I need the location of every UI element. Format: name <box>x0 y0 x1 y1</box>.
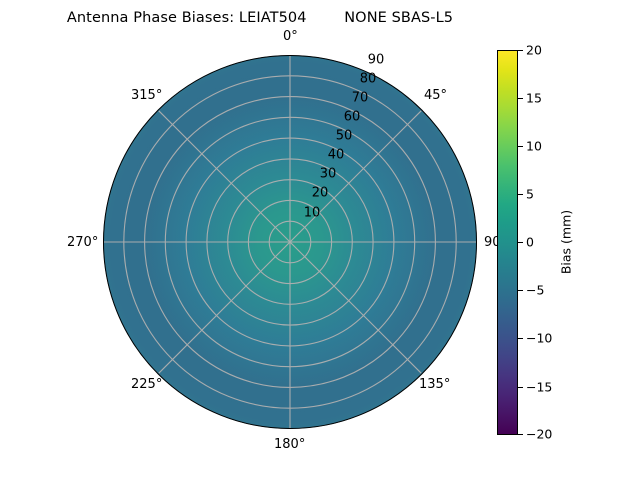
colorbar-label-m5: −5 <box>526 283 544 298</box>
r-tick-80: 80 <box>360 72 377 87</box>
colorbar-gradient <box>497 50 518 435</box>
colorbar-label-m15: −15 <box>526 380 552 395</box>
colorbar-label-10: 10 <box>526 139 542 154</box>
colorbar[interactable]: 20 15 10 5 0 −5 −10 −15 −20 <box>497 50 518 435</box>
r-tick-90: 90 <box>368 53 385 68</box>
colorbar-tick-m15 <box>518 387 523 388</box>
colorbar-tick-m20 <box>518 434 523 435</box>
r-tick-50: 50 <box>336 129 353 144</box>
theta-tick-180: 180° <box>274 437 305 452</box>
r-tick-60: 60 <box>344 110 361 125</box>
polar-plot-axes[interactable] <box>103 55 477 429</box>
polar-data-disc <box>103 55 477 429</box>
colorbar-tick-0 <box>518 242 523 243</box>
r-tick-20: 20 <box>312 186 329 201</box>
colorbar-label-20: 20 <box>526 43 542 58</box>
colorbar-axis-label: Bias (mm) <box>559 210 574 274</box>
theta-tick-45: 45° <box>424 88 447 103</box>
r-tick-70: 70 <box>352 91 369 106</box>
colorbar-tick-m5 <box>518 290 523 291</box>
colorbar-tick-m10 <box>518 338 523 339</box>
theta-tick-315: 315° <box>131 88 162 103</box>
colorbar-tick-15 <box>518 98 523 99</box>
r-tick-40: 40 <box>328 148 345 163</box>
theta-tick-0: 0° <box>283 29 298 44</box>
colorbar-label-0: 0 <box>526 235 534 250</box>
colorbar-tick-20 <box>518 50 523 51</box>
colorbar-label-m10: −10 <box>526 331 552 346</box>
colorbar-label-15: 15 <box>526 91 542 106</box>
r-tick-30: 30 <box>320 167 337 182</box>
theta-tick-270: 270° <box>67 235 98 250</box>
colorbar-label-m20: −20 <box>526 427 552 442</box>
polar-heatmap-fill <box>103 55 477 429</box>
colorbar-label-5: 5 <box>526 187 534 202</box>
theta-tick-135: 135° <box>419 377 450 392</box>
page-title: Antenna Phase Biases: LEIAT504 NONE SBAS… <box>0 10 520 26</box>
r-tick-10: 10 <box>304 206 321 221</box>
colorbar-tick-5 <box>518 194 523 195</box>
colorbar-tick-10 <box>518 146 523 147</box>
theta-tick-225: 225° <box>131 377 162 392</box>
